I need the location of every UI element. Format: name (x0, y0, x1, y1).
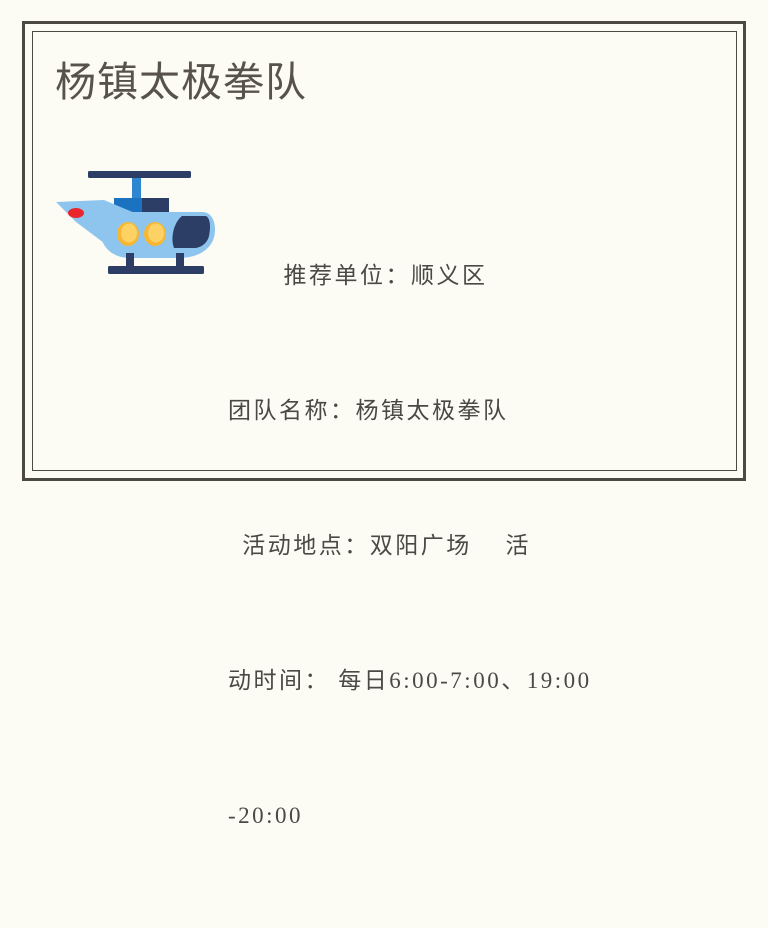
info-line-time-part2: -20:00 (228, 793, 658, 838)
rotor-mast (132, 178, 141, 198)
porthole-left-inner (121, 224, 137, 243)
info-line-location: 活动地点：双阳广场 活 (228, 523, 658, 568)
helicopter-icon (52, 160, 217, 280)
info-line-recommending-unit: 推荐单位：顺义区 (228, 253, 658, 298)
info-block: 推荐单位：顺义区 团队名称：杨镇太极拳队 活动地点：双阳广场 活 动时间： 每日… (228, 163, 658, 928)
page-title: 杨镇太极拳队 (55, 60, 307, 106)
skid-strut-left (126, 253, 134, 267)
landing-skid (108, 266, 204, 274)
cockpit-window (172, 216, 210, 248)
porthole-right-inner (148, 224, 164, 243)
info-line-team-name: 团队名称：杨镇太极拳队 (228, 388, 658, 433)
tail-light (68, 208, 84, 218)
rotor-blade (88, 171, 191, 178)
info-line-time-part1: 动时间： 每日6:00-7:00、19:00 (228, 658, 658, 703)
poster-canvas: 杨镇太极拳队 (0, 0, 768, 510)
skid-strut-right (176, 253, 184, 267)
